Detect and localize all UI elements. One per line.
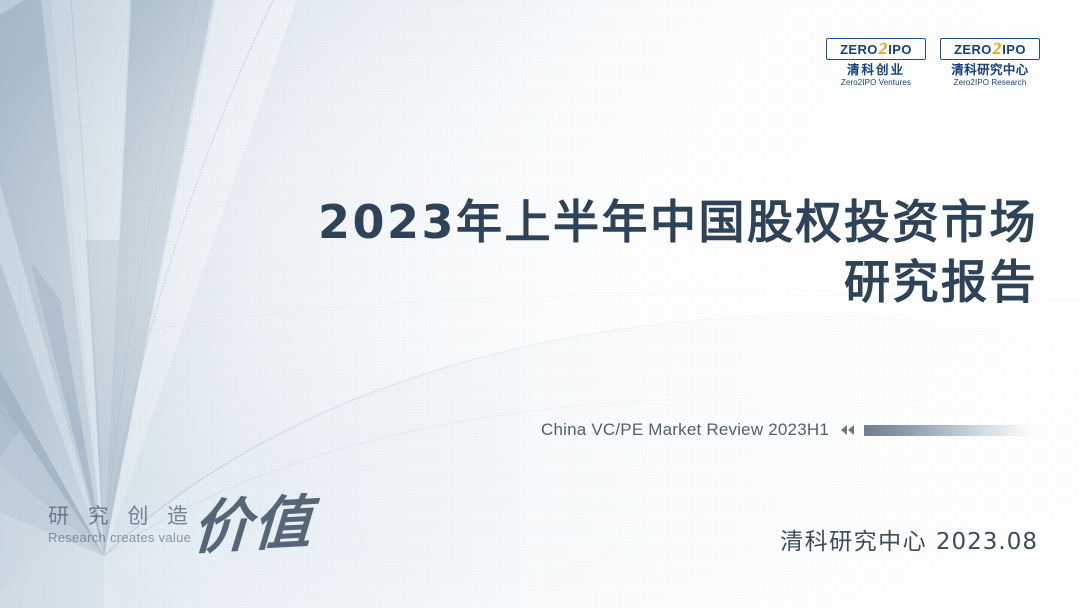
zero2ipo-wordmark-icon: ZERO 2 IPO [940,38,1040,60]
chevron-left-icon-1 [841,425,847,435]
double-chevron-icon [841,425,854,435]
subtitle-english: China VC/PE Market Review 2023H1 [541,420,829,440]
logo-en-ventures: Zero2IPO Ventures [826,79,926,88]
wordmark-ipo: IPO [888,43,912,56]
title-line-1: 2023年上半年中国股权投资市场 [218,192,1038,252]
footer-org-name: 清科研究中心 [780,529,927,555]
logo-cn-ventures: 清科创业 [826,64,926,78]
title-line-2: 研究报告 [218,252,1038,312]
chevron-left-icon-2 [848,425,854,435]
gradient-rule [864,425,1040,436]
wordmark-ipo: IPO [1002,43,1026,56]
wordmark-two-icon: 2 [993,40,1002,57]
wordmark-zero: ZERO [954,43,992,56]
logo-en-research: Zero2IPO Research [940,79,1040,88]
report-cover-slide: ZERO 2 IPO 清科创业 Zero2IPO Ventures ZERO 2… [0,0,1080,608]
wordmark-two-icon: 2 [879,40,888,57]
wordmark-zero: ZERO [840,43,878,56]
footer-date: 2023.08 [936,529,1038,555]
page-title: 2023年上半年中国股权投资市场 研究报告 [218,192,1038,312]
slogan-watermark: 研 究 创 造 Research creates value 价值 [48,505,278,545]
logo-zero2ipo-research[interactable]: ZERO 2 IPO 清科研究中心 Zero2IPO Research [940,38,1040,88]
subtitle-row: China VC/PE Market Review 2023H1 [541,420,1040,440]
logo-zero2ipo-ventures[interactable]: ZERO 2 IPO 清科创业 Zero2IPO Ventures [826,38,926,88]
logo-bar: ZERO 2 IPO 清科创业 Zero2IPO Ventures ZERO 2… [826,38,1040,88]
slogan-brush-calligraphy: 价值 [191,494,315,558]
zero2ipo-wordmark-icon: ZERO 2 IPO [826,38,926,60]
footer-organization: 清科研究中心 2023.08 [780,522,1038,556]
logo-cn-research: 清科研究中心 [940,64,1040,78]
